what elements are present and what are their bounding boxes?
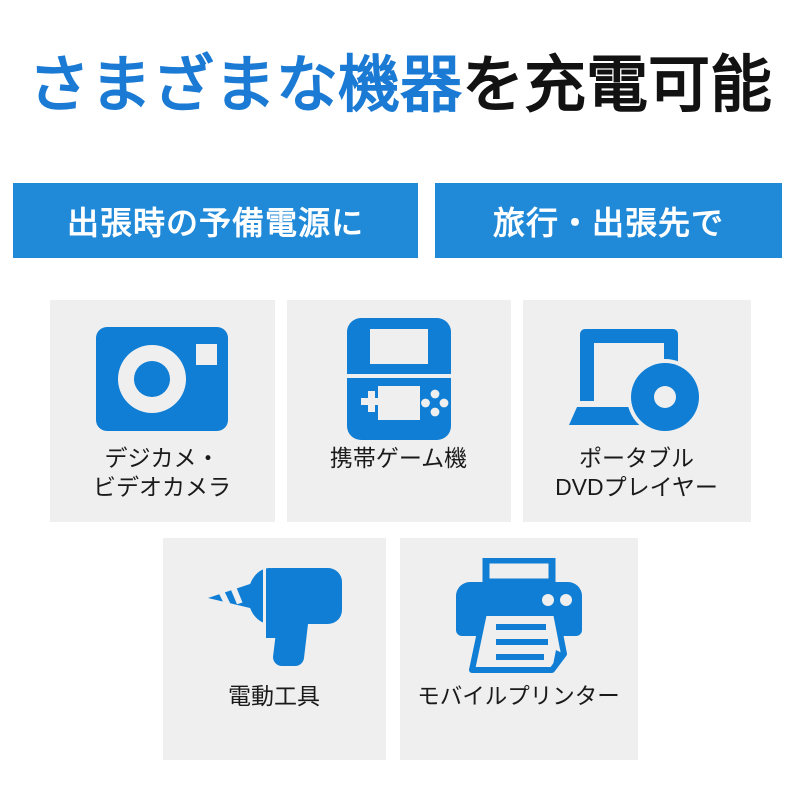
portable-dvd-player-icon: [567, 318, 707, 440]
device-card-power-drill-label: 電動工具: [228, 682, 320, 711]
device-card-power-drill: 電動工具: [163, 538, 386, 760]
device-card-row-bottom: 電動工具 モバイルプリンター: [0, 538, 800, 760]
device-card-mobile-printer-label: モバイルプリンター: [417, 682, 620, 711]
page-title: さまざまな機器を充電可能: [0, 48, 800, 124]
banner-travel-label: 旅行・出張先で: [493, 198, 724, 244]
device-card-digital-camera-label: デジカメ・ ビデオカメラ: [93, 444, 231, 502]
page-title-rest: を充電可能: [462, 51, 772, 120]
banner-business-trip-label: 出張時の予備電源に: [67, 198, 364, 244]
device-card-digital-camera: デジカメ・ ビデオカメラ: [50, 300, 275, 522]
device-card-row-top: デジカメ・ ビデオカメラ 携帯ゲーム機: [0, 300, 800, 522]
digital-camera-icon: [96, 318, 228, 440]
device-card-handheld-game-console: 携帯ゲーム機: [287, 300, 511, 522]
banner-row: 出張時の予備電源に 旅行・出張先で: [13, 183, 787, 258]
device-card-portable-dvd-player-label: ポータブル DVDプレイヤー: [555, 444, 718, 502]
handheld-game-console-icon: [347, 318, 451, 440]
page-title-highlight: さまざまな機器: [28, 51, 462, 120]
banner-travel: 旅行・出張先で: [435, 183, 782, 258]
device-card-portable-dvd-player: ポータブル DVDプレイヤー: [523, 300, 751, 522]
banner-business-trip: 出張時の予備電源に: [13, 183, 418, 258]
mobile-printer-icon: [456, 556, 582, 678]
device-card-mobile-printer: モバイルプリンター: [400, 538, 638, 760]
device-card-handheld-game-console-label: 携帯ゲーム機: [330, 444, 467, 473]
power-drill-icon: [200, 556, 348, 678]
